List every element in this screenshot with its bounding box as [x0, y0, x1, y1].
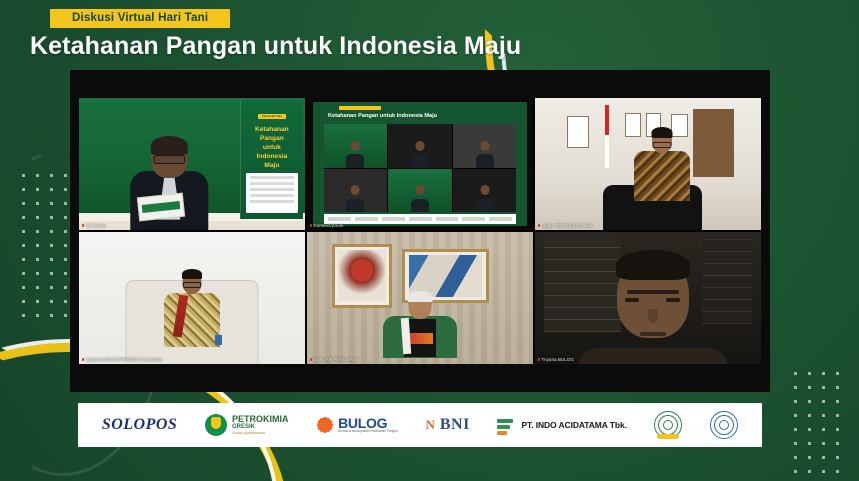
sponsor-emblem-secondary	[710, 411, 738, 439]
participant-brow	[627, 290, 679, 294]
participant-batik-shirt	[164, 293, 220, 347]
participant-name-label-1: CS Group	[82, 224, 106, 228]
participant-hair	[182, 269, 202, 279]
participant-tile-3[interactable]: Letjen TNI (Purn) Dr. Nur	[535, 98, 761, 230]
petrokimia-icon	[205, 414, 227, 436]
shared-tile-3	[453, 124, 517, 168]
sponsor-petrokimia-gresik: PETROKIMIA GRESIK Solusi Agroindustri	[205, 414, 289, 436]
video-conference-panel: Virtual Hari Tani KetahananPanganuntukIn…	[70, 70, 770, 392]
wall-frame	[625, 113, 641, 137]
window-right	[702, 237, 752, 324]
window-left	[544, 237, 621, 332]
indo-acidatama-logo-text: PT. INDO ACIDATAMA Tbk.	[521, 420, 626, 430]
participant-name-label-5: GANJAR PRANOWO	[310, 358, 357, 362]
shared-tile-1	[324, 124, 388, 168]
shared-tile-6	[453, 169, 517, 213]
participant-torso	[578, 348, 728, 364]
solopos-logo-text: SOLOPOS	[102, 416, 178, 434]
participant-grid: Virtual Hari Tani KetahananPanganuntukIn…	[79, 98, 761, 364]
shared-tile-5	[388, 169, 452, 213]
wall-painting-portrait	[332, 244, 392, 308]
participant-tile-5[interactable]: GANJAR PRANOWO	[307, 232, 533, 364]
sponsor-indo-acidatama: PT. INDO ACIDATAMA Tbk.	[497, 416, 626, 435]
event-poster: Virtual Hari Tani KetahananPanganuntukIn…	[240, 100, 303, 219]
participant-name-label-4: Sugiyanto/Dadi BPPSDMP Kementan	[82, 358, 162, 362]
sponsor-solopos: SOLOPOS	[102, 416, 178, 434]
participant-batik-shirt	[634, 151, 690, 201]
bulog-starburst-icon	[316, 416, 333, 433]
participant-mouth	[640, 332, 666, 336]
page-title: Ketahanan Pangan untuk Indonesia Maju	[30, 33, 859, 59]
participant-glasses	[183, 282, 201, 288]
participant-tile-6[interactable]: Triyana BULOG	[535, 232, 761, 364]
participant-name-label-6: Triyana BULOG	[538, 358, 574, 362]
speaker-glasses	[153, 155, 185, 164]
mic-muted-icon	[538, 358, 540, 361]
participant-hair	[651, 127, 672, 138]
id-badge	[215, 335, 222, 345]
mic-muted-icon	[310, 358, 312, 361]
indonesian-flag	[605, 105, 609, 168]
poster-badge: Virtual Hari Tani	[258, 114, 286, 119]
bni-mark-icon: N	[425, 417, 434, 433]
participant-glasses	[652, 142, 671, 148]
poster-sponsor-strip	[246, 173, 298, 213]
shared-screen-content: Ketahanan Pangan untuk Indonesia Maju	[313, 102, 527, 226]
speaker-hair	[151, 136, 188, 155]
hari-tani-emblem-icon	[654, 411, 682, 439]
sponsor-bulog: BULOG Bersama Mewujudkan Ketahanan Panga…	[316, 416, 398, 433]
participant-nose	[648, 309, 658, 323]
mic-muted-icon	[310, 224, 312, 227]
participant-name-label-3: Letjen TNI (Purn) Dr. Nur	[538, 224, 593, 228]
participant-eye-right	[666, 298, 680, 302]
petrokimia-tagline: Solusi Agroindustri	[232, 431, 289, 435]
mic-muted-icon	[82, 224, 84, 227]
bulog-tagline: Bersama Mewujudkan Ketahanan Pangan	[338, 430, 398, 433]
wall-frame	[671, 114, 689, 137]
sponsor-bni: N BNI	[425, 416, 469, 434]
secondary-emblem-icon	[710, 411, 738, 439]
shared-sponsor-strip	[324, 214, 517, 224]
shared-tile-2	[388, 124, 452, 168]
shared-badge	[339, 106, 381, 110]
shared-participant-grid	[324, 124, 517, 212]
dot-grid-right	[794, 372, 839, 481]
participant-tile-4[interactable]: Sugiyanto/Dadi BPPSDMP Kementan	[79, 232, 305, 364]
mic-muted-icon	[82, 358, 84, 361]
bulog-logo-text: BULOG	[338, 416, 398, 430]
participant-tile-1[interactable]: Virtual Hari Tani KetahananPanganuntukIn…	[79, 98, 305, 230]
held-document	[137, 193, 185, 222]
mic-muted-icon	[538, 224, 540, 227]
participant-name-label-2: Connect/Zoom	[310, 224, 344, 228]
participant-tile-2[interactable]: Ketahanan Pangan untuk Indonesia Maju Co…	[307, 98, 533, 230]
wall-frame	[567, 116, 589, 147]
participant-hair	[408, 291, 433, 302]
petrokimia-line1: PETROKIMIA	[232, 415, 289, 424]
door	[693, 109, 734, 178]
bni-logo-text: BNI	[440, 416, 470, 434]
event-badge: Diskusi Virtual Hari Tani	[50, 9, 230, 28]
poster-title: KetahananPanganuntukIndonesiaMaju	[241, 126, 303, 170]
dot-grid-left	[22, 174, 67, 317]
sponsor-bar: SOLOPOS PETROKIMIA GRESIK Solusi Agroind…	[78, 403, 762, 447]
indo-acidatama-leaf-icon	[497, 416, 516, 435]
participant-eye-left	[625, 298, 639, 302]
shared-title: Ketahanan Pangan untuk Indonesia Maju	[328, 113, 437, 119]
sponsor-emblem-hari-tani	[654, 411, 682, 439]
shared-tile-4	[324, 169, 388, 213]
participant-hair	[616, 250, 690, 280]
header: Diskusi Virtual Hari Tani Ketahanan Pang…	[0, 0, 859, 59]
